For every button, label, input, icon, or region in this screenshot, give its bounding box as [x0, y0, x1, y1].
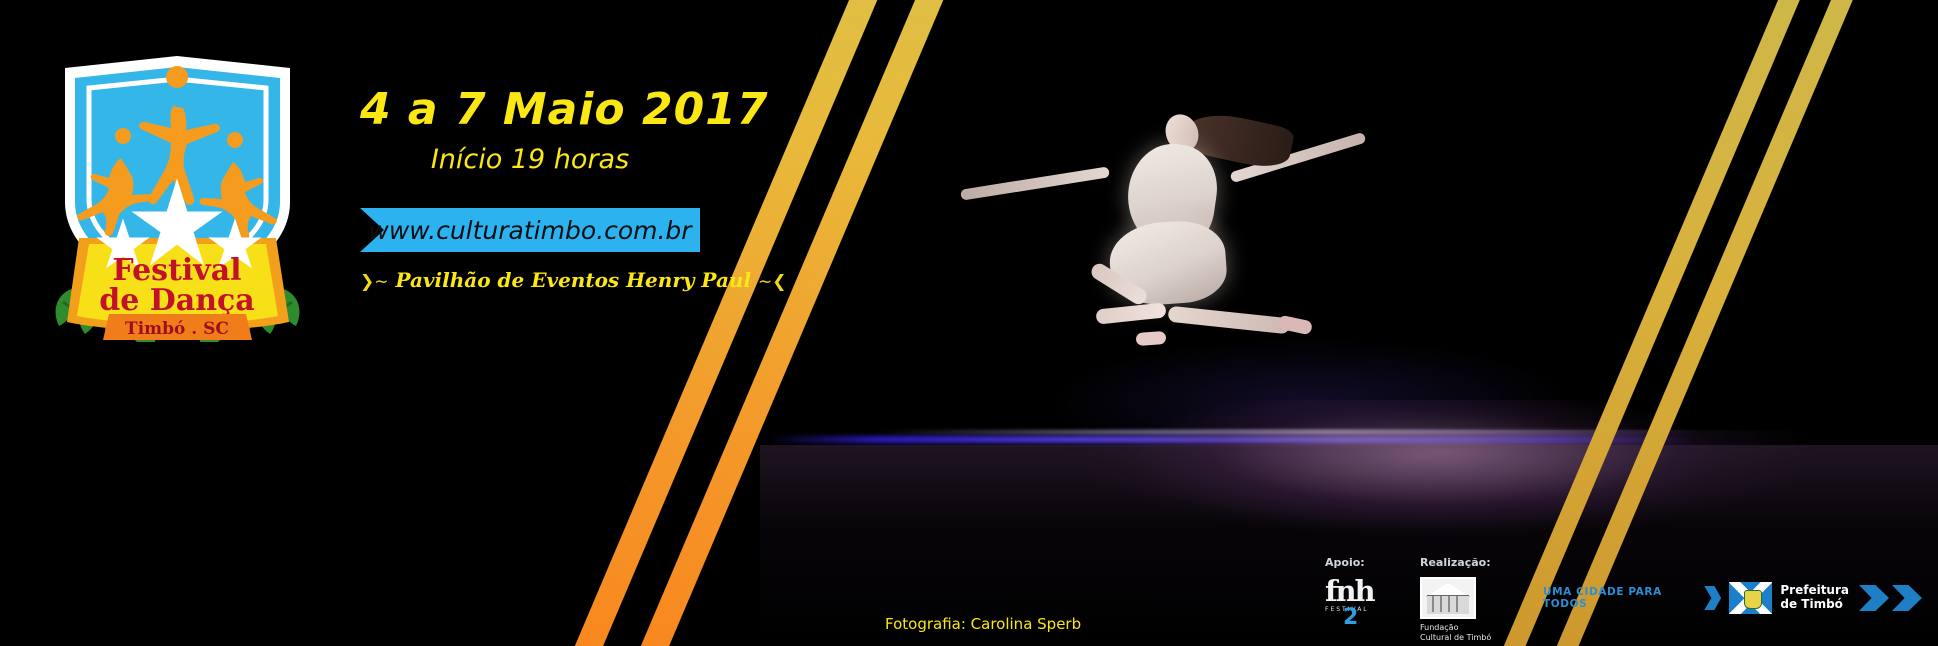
fundacao-building-icon[interactable] [1420, 577, 1476, 619]
event-info-block: 4 a 7 Maio 2017 Início 19 horas www.cult… [360, 88, 720, 292]
dancer-figure [960, 100, 1520, 400]
fnh-logo[interactable]: fnh FESTIVAL 2 [1325, 578, 1374, 626]
logo-location-text: Timbó . SC [125, 319, 229, 339]
timbo-flag-icon [1729, 582, 1772, 614]
sponsor-apoio: Apoio: fnh FESTIVAL 2 [1325, 556, 1374, 626]
dancer-front-shin [1095, 302, 1166, 324]
flag-crest [1744, 590, 1762, 609]
dancer-left-arm [960, 166, 1110, 200]
flourish-left-icon: ❯∼ [360, 272, 389, 292]
festival-logo[interactable]: Festival de Dança Timbó . SC [45, 52, 310, 342]
building-column [1432, 596, 1434, 612]
dancer-back-leg [1167, 306, 1290, 335]
venue-name: Pavilhão de Eventos Henry Paul [395, 268, 751, 292]
website-banner[interactable]: www.culturatimbo.com.br [360, 208, 700, 252]
sponsor-prefeitura[interactable]: UMA CIDADE PARA TODOS Prefeitura de Timb… [1543, 582, 1925, 614]
fundacao-caption: Fundação Cultural de Timbó [1420, 623, 1491, 643]
fundacao-caption-line1: Fundação [1420, 623, 1491, 633]
stage-photo [760, 0, 1938, 646]
chevron-right-icon [1859, 585, 1889, 611]
building-column [1448, 596, 1450, 612]
building-column [1440, 596, 1442, 612]
dancer-knee-shoe [1136, 331, 1167, 346]
sponsor-bar: Apoio: fnh FESTIVAL 2 Realização: Fundaç… [1325, 556, 1925, 646]
event-time: Início 19 horas [360, 144, 700, 175]
building-column [1456, 596, 1458, 612]
event-date: 4 a 7 Maio 2017 [360, 88, 720, 132]
chevron-pair-icon [1859, 585, 1925, 611]
logo-title-line2: de Dança [99, 283, 254, 318]
chevron-right-icon [1704, 586, 1721, 610]
fundacao-caption-line2: Cultural de Timbó [1420, 633, 1491, 643]
realizacao-label: Realização: [1420, 556, 1491, 569]
prefeitura-name: Prefeitura de Timbó [1780, 584, 1849, 612]
fnh-wordmark: fnh [1325, 578, 1374, 606]
flourish-right-icon: ∼❮ [758, 272, 787, 292]
prefeitura-name-line1: Prefeitura [1780, 584, 1849, 598]
photo-credit: Fotografia: Carolina Sperb [885, 615, 1081, 633]
sponsor-realizacao: Realização: Fundação Cultural de Timbó [1420, 556, 1491, 643]
website-url[interactable]: www.culturatimbo.com.br [360, 208, 700, 252]
prefeitura-slogan: UMA CIDADE PARA TODOS [1543, 586, 1700, 610]
prefeitura-name-line2: de Timbó [1780, 598, 1849, 612]
apoio-label: Apoio: [1325, 556, 1374, 569]
venue-line: ❯∼ Pavilhão de Eventos Henry Paul ∼❮ [360, 268, 700, 292]
banner-root: Festival de Dança Timbó . SC 4 a 7 Maio … [0, 0, 1938, 646]
chevron-right-icon [1892, 585, 1922, 611]
